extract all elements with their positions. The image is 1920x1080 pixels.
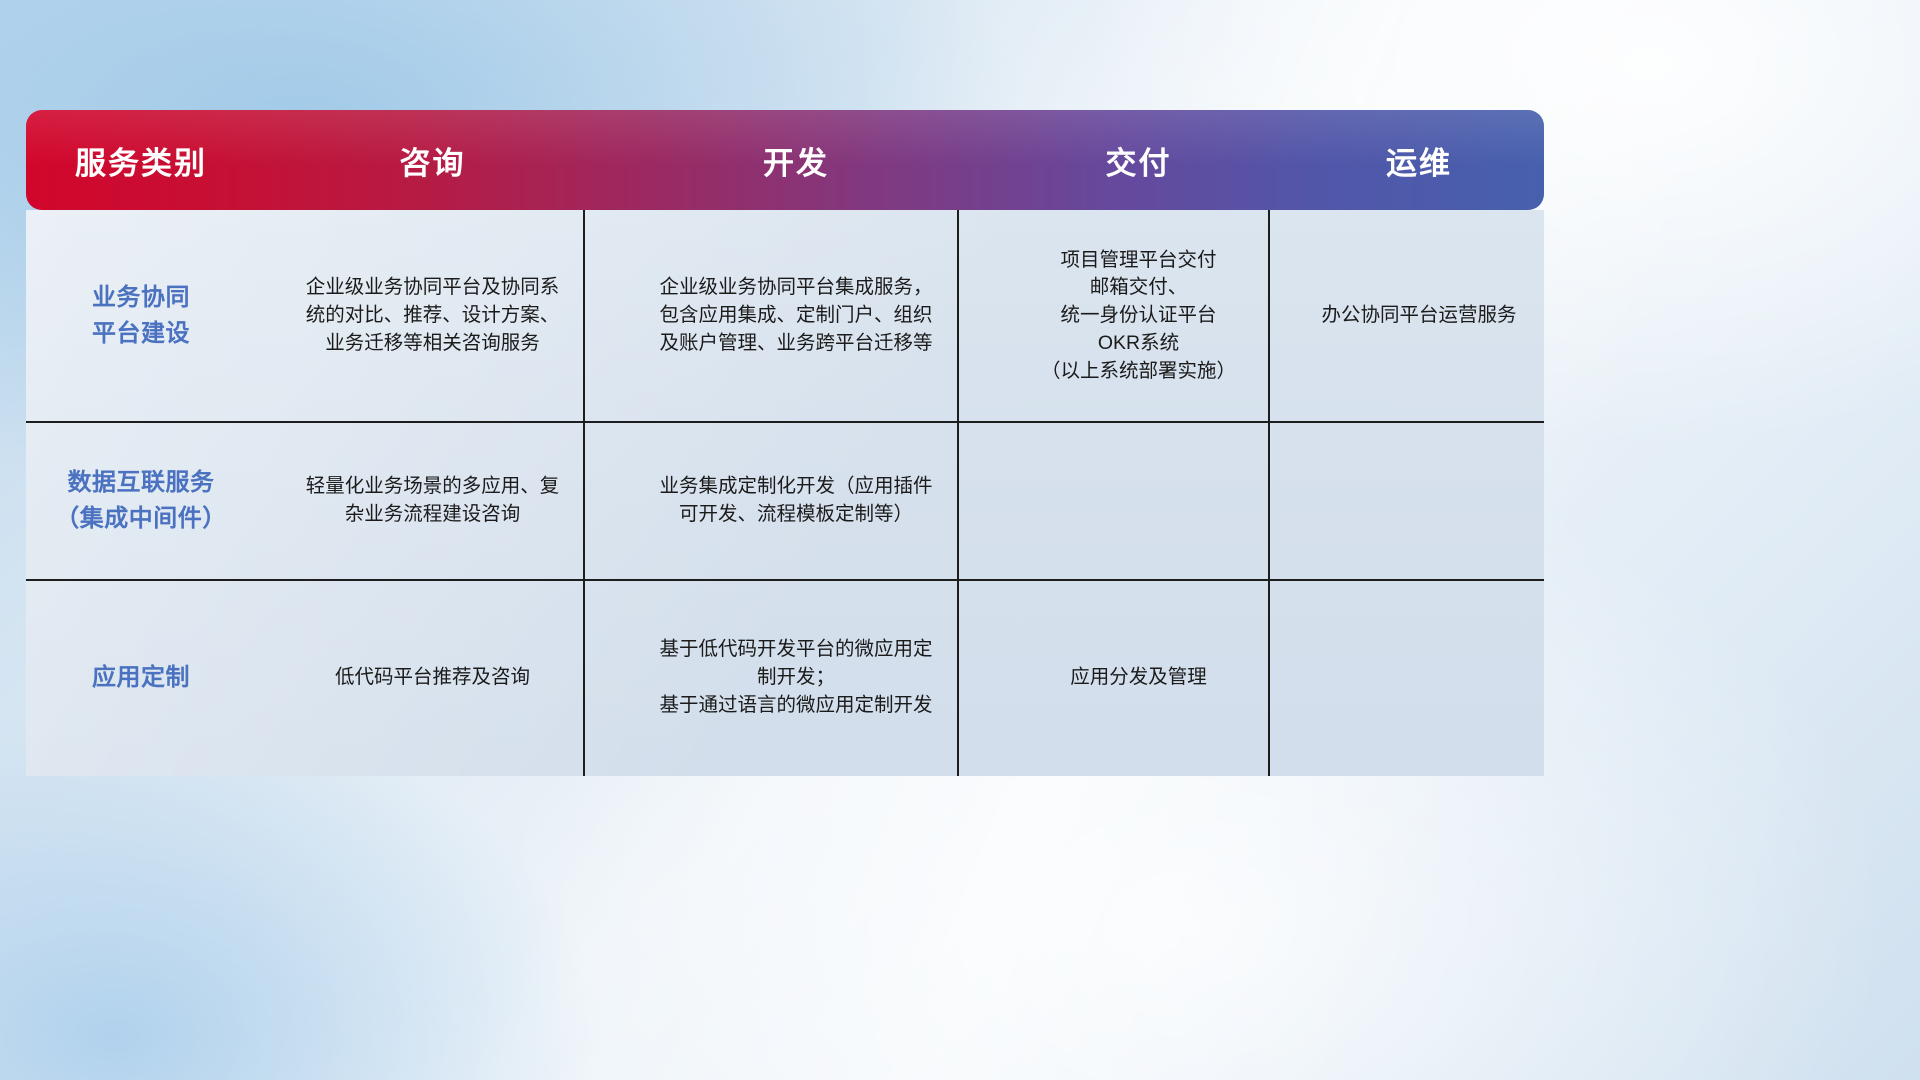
column-header-service-category: 服务类别	[26, 138, 256, 183]
cell-delivery: 应用分发及管理	[983, 580, 1294, 776]
cell-operations	[1294, 580, 1544, 776]
table-row: 应用定制 低代码平台推荐及咨询 基于低代码开发平台的微应用定 制开发； 基于通过…	[26, 580, 1544, 776]
column-header-consulting: 咨询	[256, 138, 609, 183]
column-header-development: 开发	[609, 138, 983, 183]
table-row: 数据互联服务 （集成中间件） 轻量化业务场景的多应用、复 杂业务流程建设咨询 业…	[26, 422, 1544, 580]
row-label-data-interconnect: 数据互联服务 （集成中间件）	[26, 422, 256, 580]
cell-development: 基于低代码开发平台的微应用定 制开发； 基于通过语言的微应用定制开发	[609, 580, 983, 776]
cell-consulting: 企业级业务协同平台及协同系 统的对比、推荐、设计方案、 业务迁移等相关咨询服务	[256, 210, 609, 422]
cell-delivery: 项目管理平台交付 邮箱交付、 统一身份认证平台 OKR系统 （以上系统部署实施）	[983, 210, 1294, 422]
table-header-row: 服务类别 咨询 开发 交付 运维	[26, 110, 1544, 210]
row-label-business-collaboration: 业务协同 平台建设	[26, 210, 256, 422]
cell-development: 企业级业务协同平台集成服务， 包含应用集成、定制门户、组织 及账户管理、业务跨平…	[609, 210, 983, 422]
service-matrix-table: 服务类别 咨询 开发 交付 运维 业务协同 平台建设 企业级业务协同平台及协同系…	[26, 110, 1544, 776]
cell-consulting: 轻量化业务场景的多应用、复 杂业务流程建设咨询	[256, 422, 609, 580]
cell-consulting: 低代码平台推荐及咨询	[256, 580, 609, 776]
table-body: 业务协同 平台建设 企业级业务协同平台及协同系 统的对比、推荐、设计方案、 业务…	[26, 210, 1544, 776]
column-header-delivery: 交付	[983, 138, 1294, 183]
table-row: 业务协同 平台建设 企业级业务协同平台及协同系 统的对比、推荐、设计方案、 业务…	[26, 210, 1544, 422]
column-header-operations: 运维	[1294, 138, 1544, 183]
cell-delivery	[983, 422, 1294, 580]
row-label-app-customization: 应用定制	[26, 580, 256, 776]
cell-operations	[1294, 422, 1544, 580]
cell-operations: 办公协同平台运营服务	[1294, 210, 1544, 422]
cell-development: 业务集成定制化开发（应用插件 可开发、流程模板定制等）	[609, 422, 983, 580]
